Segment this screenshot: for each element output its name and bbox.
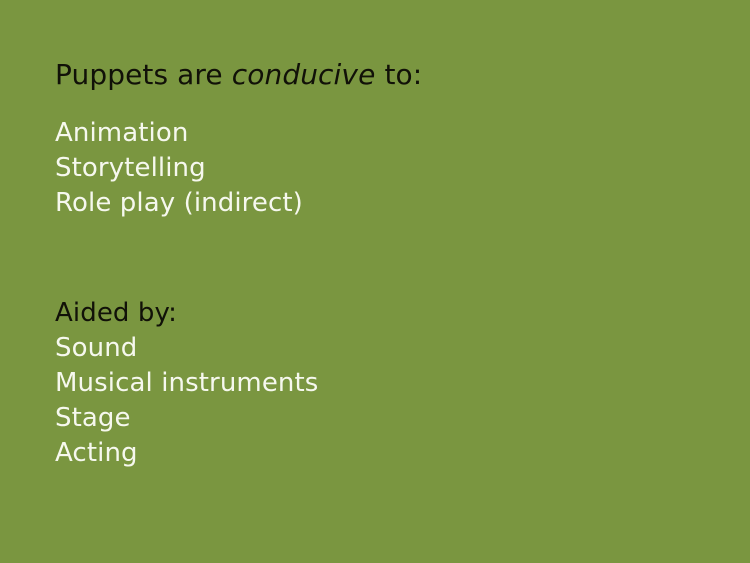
list-item: Stage <box>55 401 720 436</box>
list-item: Sound <box>55 331 720 366</box>
slide-title-lead: Puppets are <box>55 58 232 91</box>
slide-title-emphasis: conducive <box>232 58 376 91</box>
slide-title-trail: to: <box>375 58 422 91</box>
list-item: Animation <box>55 116 720 151</box>
slide-canvas: Puppets are conducive to: Animation Stor… <box>0 0 750 563</box>
list-item: Role play (indirect) <box>55 186 720 221</box>
slide-content: Puppets are conducive to: Animation Stor… <box>55 58 720 471</box>
slide-title: Puppets are conducive to: <box>55 58 720 92</box>
list-item: Musical instruments <box>55 366 720 401</box>
list-item: Acting <box>55 436 720 471</box>
section-spacer <box>55 221 720 296</box>
list-item: Storytelling <box>55 151 720 186</box>
bullet-list-aided-by: Sound Musical instruments Stage Acting <box>55 331 720 471</box>
section-heading-aided-by: Aided by: <box>55 296 720 331</box>
bullet-list-conducive: Animation Storytelling Role play (indire… <box>55 116 720 221</box>
